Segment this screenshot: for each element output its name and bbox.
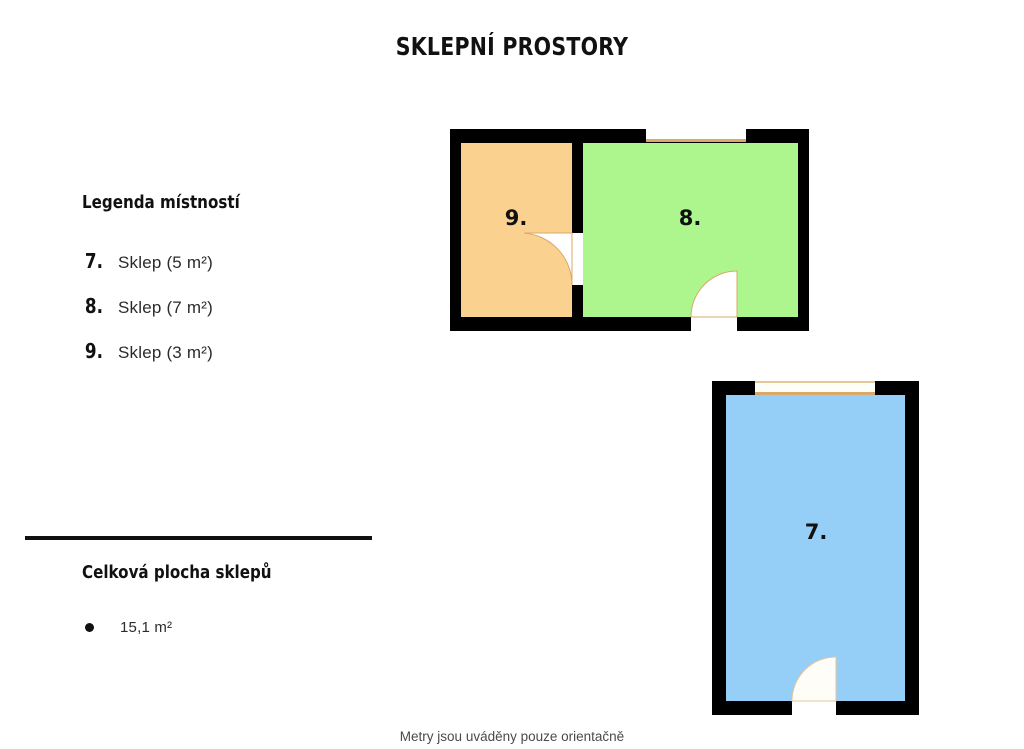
door-opening-9-8 xyxy=(572,233,583,285)
bullet-icon xyxy=(85,623,94,632)
room-label-9: 9. xyxy=(505,206,528,230)
room-fill-9 xyxy=(461,143,572,317)
room-label-7: 7. xyxy=(805,520,828,544)
door-opening-7-exterior xyxy=(792,701,836,715)
room-fill-8 xyxy=(583,143,798,317)
door-opening-8-exterior xyxy=(691,317,737,331)
legend-item-number: 8. xyxy=(85,294,115,318)
floorplan-upper: 9. 8. xyxy=(450,129,809,331)
room-legend: Legenda místností 7. Sklep (5 m²) 8. Skl… xyxy=(82,192,382,384)
room-fill-7 xyxy=(726,395,905,701)
legend-item-label: Sklep (3 m²) xyxy=(118,343,213,363)
total-area-value: 15,1 m² xyxy=(120,619,172,636)
window-frame-bottom-lower xyxy=(755,392,875,395)
floorplan-upper-svg: 9. 8. xyxy=(450,129,809,331)
total-area-section: Celková plocha sklepů 15,1 m² xyxy=(82,562,382,636)
list-item: 15,1 m² xyxy=(82,619,382,636)
legend-heading: Legenda místností xyxy=(82,192,334,213)
legend-item-label: Sklep (5 m²) xyxy=(118,253,213,273)
section-divider xyxy=(25,536,372,540)
legend-item-number: 7. xyxy=(85,249,115,273)
window-frame-top-lower xyxy=(755,381,875,383)
list-item: 9. Sklep (3 m²) xyxy=(82,339,382,384)
list-item: 8. Sklep (7 m²) xyxy=(82,294,382,339)
legend-item-number: 9. xyxy=(85,339,115,363)
room-label-8: 8. xyxy=(679,206,702,230)
list-item: 7. Sklep (5 m²) xyxy=(82,249,382,294)
window-frame-upper xyxy=(646,139,746,142)
legend-item-label: Sklep (7 m²) xyxy=(118,298,213,318)
floorplan-lower-svg: 7. xyxy=(712,381,919,715)
total-area-heading: Celková plocha sklepů xyxy=(82,562,334,583)
footer-note: Metry jsou uváděny pouze orientačně xyxy=(0,729,1024,744)
legend-list: 7. Sklep (5 m²) 8. Sklep (7 m²) 9. Sklep… xyxy=(82,249,382,384)
window-upper xyxy=(646,129,746,140)
page-title: SKLEPNÍ PROSTORY xyxy=(92,32,932,61)
floorplan-lower: 7. xyxy=(712,381,919,715)
